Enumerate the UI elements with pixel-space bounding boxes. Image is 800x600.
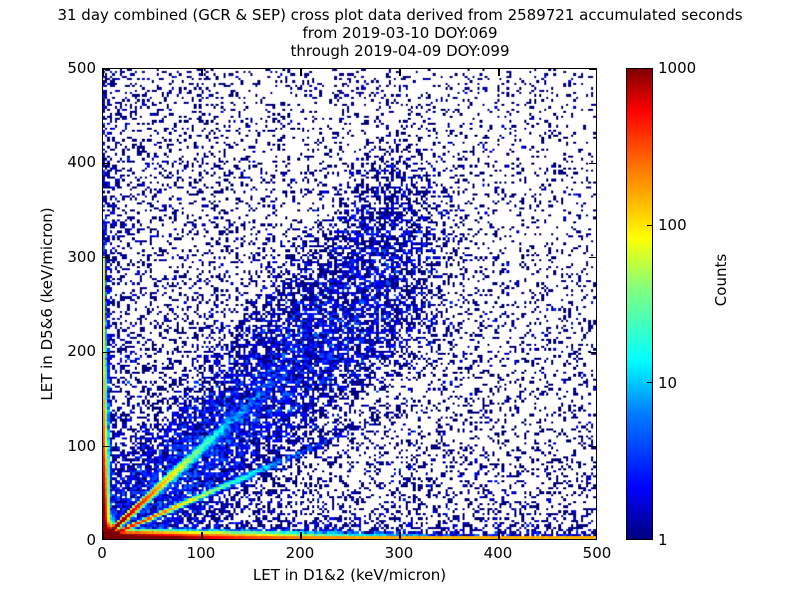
x-tick-label-500: 500 xyxy=(583,544,612,562)
y-axis-title: LET in D5&6 (keV/micron) xyxy=(38,68,56,540)
colorbar-tick-100 xyxy=(647,225,653,226)
density-scatter-plot xyxy=(103,69,596,539)
x-tick-300 xyxy=(399,532,400,539)
x-tick-0 xyxy=(102,69,103,76)
y-tick-label-400: 400 xyxy=(52,153,96,171)
y-tick-400 xyxy=(103,163,110,164)
x-tick-200 xyxy=(300,69,301,76)
y-tick-500 xyxy=(103,68,110,69)
colorbar-tick-label-1000: 1000 xyxy=(658,59,696,77)
chart-title-line-2: from 2019-03-10 DOY:069 xyxy=(0,24,800,42)
colorbar-tick-label-100: 100 xyxy=(658,216,687,234)
colorbar-title: Counts xyxy=(712,150,730,410)
y-tick-100 xyxy=(103,446,110,447)
x-axis-title: LET in D1&2 (keV/micron) xyxy=(102,566,597,584)
colorbar[interactable] xyxy=(626,68,653,540)
chart-title: 31 day combined (GCR & SEP) cross plot d… xyxy=(0,6,800,60)
x-tick-label-0: 0 xyxy=(97,544,107,562)
plot-area[interactable] xyxy=(102,68,597,540)
colorbar-tick-label-10: 10 xyxy=(658,374,677,392)
x-tick-label-300: 300 xyxy=(385,544,414,562)
y-tick-label-100: 100 xyxy=(52,437,96,455)
y-tick-400 xyxy=(589,163,596,164)
x-tick-400 xyxy=(498,532,499,539)
x-tick-100 xyxy=(201,532,202,539)
figure-canvas: 31 day combined (GCR & SEP) cross plot d… xyxy=(0,0,800,600)
x-tick-label-400: 400 xyxy=(484,544,513,562)
y-tick-200 xyxy=(103,352,110,353)
y-tick-label-0: 0 xyxy=(52,531,96,549)
x-tick-label-200: 200 xyxy=(286,544,315,562)
y-tick-300 xyxy=(103,257,110,258)
y-tick-label-200: 200 xyxy=(52,342,96,360)
colorbar-tick-10 xyxy=(647,382,653,383)
y-tick-100 xyxy=(589,446,596,447)
y-tick-200 xyxy=(589,352,596,353)
y-tick-label-500: 500 xyxy=(52,59,96,77)
x-tick-200 xyxy=(300,532,301,539)
x-tick-label-100: 100 xyxy=(187,544,216,562)
y-tick-label-300: 300 xyxy=(52,248,96,266)
y-tick-500 xyxy=(589,68,596,69)
x-tick-0 xyxy=(102,532,103,539)
x-tick-300 xyxy=(399,69,400,76)
colorbar-tick-label-1: 1 xyxy=(658,531,668,549)
chart-title-line-1: 31 day combined (GCR & SEP) cross plot d… xyxy=(0,6,800,24)
x-tick-100 xyxy=(201,69,202,76)
x-tick-400 xyxy=(498,69,499,76)
chart-title-line-3: through 2019-04-09 DOY:099 xyxy=(0,42,800,60)
y-tick-300 xyxy=(589,257,596,258)
